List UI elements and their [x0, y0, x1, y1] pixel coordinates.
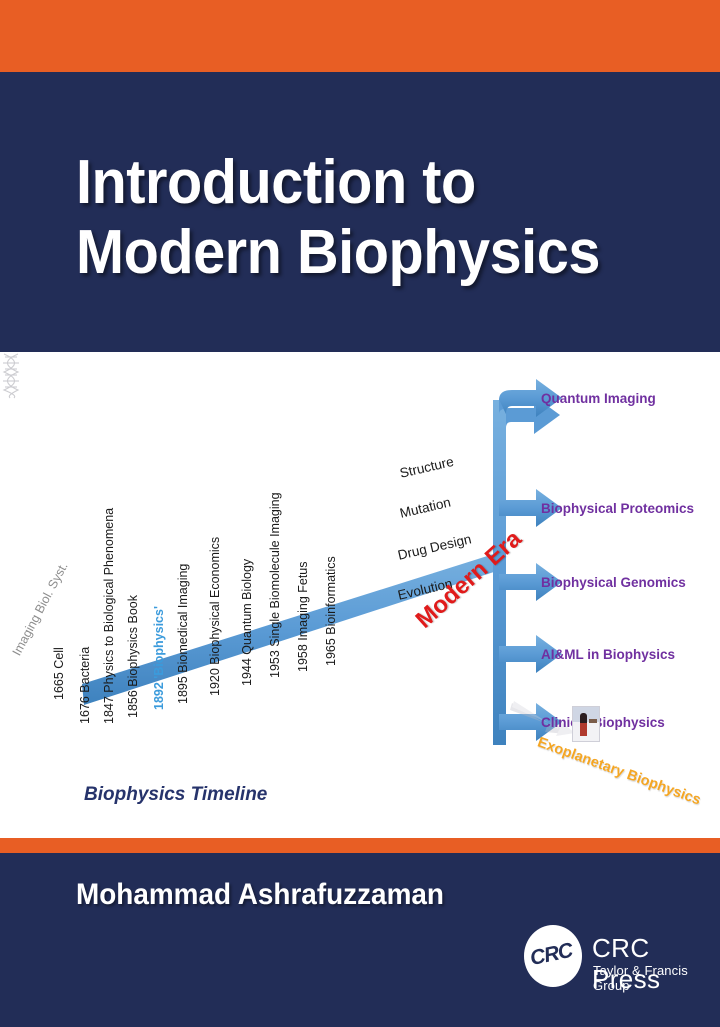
crc-press-logo: CRC CRC Press Taylor & Francis Group	[524, 925, 700, 987]
crc-oval-mark: CRC	[524, 925, 582, 987]
dna-helix-icon	[0, 352, 22, 400]
author-name: Mohammad Ashrafuzzaman	[76, 878, 444, 912]
timeline-label-1895: 1895 Biomedical Imaging	[176, 564, 190, 704]
top-orange-band	[0, 0, 720, 72]
timeline-label-1920: 1920 Biophysical Economics	[208, 537, 222, 696]
timeline-label-1953: 1953 Single Biomolecule Imaging	[268, 492, 282, 678]
bottom-orange-band	[0, 838, 720, 853]
branch-label-aiml-in-biophysics: AI&ML in Biophysics	[541, 647, 675, 662]
branch-label-biophysical-proteomics: Biophysical Proteomics	[541, 501, 694, 516]
timeline-label-1676: 1676 Bacteria	[78, 647, 92, 724]
book-title: Introduction to Modern Biophysics	[76, 148, 653, 288]
biophysics-timeline-figure: Imaging Biol. Syst. 1665 Cell 1676 Bacte…	[0, 352, 720, 838]
figure-caption: Biophysics Timeline	[84, 784, 267, 806]
timeline-label-1856: 1856 Biophysics Book	[126, 595, 140, 718]
timeline-label-1665: 1665 Cell	[52, 647, 66, 700]
timeline-label-1958: 1958 Imaging Fetus	[296, 561, 310, 672]
timeline-label-1965: 1965 Bioinformatics	[324, 556, 338, 666]
timeline-label-1847: 1847 Physics to Biological Phenomena	[102, 508, 116, 724]
book-cover: Introduction to Modern Biophysics	[0, 0, 720, 1027]
timeline-label-1892: 1892 'Biophysics'	[152, 606, 166, 710]
branch-label-clinical-biophysics: Clinical Biophysics	[541, 715, 665, 730]
crc-monogram: CRC	[528, 939, 575, 971]
astronaut-photo-thumbnail	[572, 706, 600, 742]
branch-label-quantum-imaging: Quantum Imaging	[541, 391, 656, 406]
branch-label-biophysical-genomics: Biophysical Genomics	[541, 575, 686, 590]
timeline-label-1944: 1944 Quantum Biology	[240, 559, 254, 686]
timeline-wedge	[82, 552, 500, 705]
publisher-imprint: Taylor & Francis Group	[593, 963, 700, 993]
